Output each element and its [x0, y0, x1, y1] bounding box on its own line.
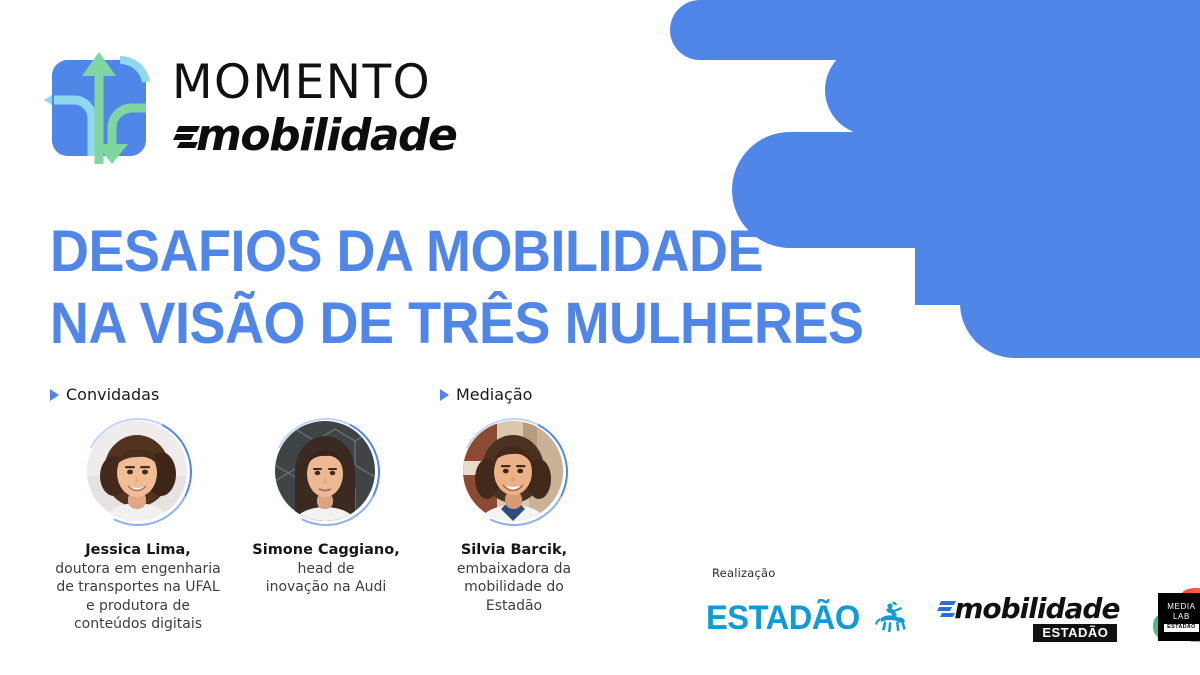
- section-label-guests-text: Convidadas: [66, 385, 159, 404]
- speaker-role: head de inovação na Audi: [266, 560, 387, 596]
- media-lab-mark: MEDIA LAB ESTADÃO: [1158, 593, 1200, 641]
- speaker-card: Silvia Barcik, embaixadora da mobilidade…: [420, 418, 608, 633]
- estadao-logo: ESTADÃO: [706, 599, 910, 637]
- headline-line-2: NA VISÃO DE TRÊS MULHERES: [50, 288, 887, 360]
- speakers-list: Jessica Lima, doutora em engenharia de t…: [44, 418, 608, 633]
- triangle-bullet-icon: [440, 389, 449, 401]
- portrait-jessica-lima: [84, 418, 192, 526]
- mobilidade-estadao-badge: ESTADÃO: [1033, 624, 1117, 642]
- portrait-silvia-barcik: [460, 418, 568, 526]
- realizacao-label: Realização: [712, 566, 1176, 580]
- media-lab-estadao-badge: ESTADÃO: [1164, 624, 1199, 632]
- speed-lines-icon: [936, 597, 956, 621]
- triangle-bullet-icon: [50, 389, 59, 401]
- brand-mobilidade-text: mobilidade: [196, 114, 456, 158]
- speaker-name: Jessica Lima,: [85, 541, 191, 559]
- mobilidade-row: mobilidade: [936, 595, 1119, 623]
- speaker-role: embaixadora da mobilidade do Estadão: [457, 560, 571, 615]
- horse-rider-icon: [872, 599, 910, 637]
- portrait-ring: [70, 404, 206, 540]
- portrait-ring: [258, 404, 394, 540]
- speaker-role: doutora em engenharia de transportes na …: [55, 560, 220, 633]
- media-lab-line2: LAB: [1173, 612, 1190, 622]
- speaker-card: Simone Caggiano, head de inovação na Aud…: [232, 418, 420, 633]
- brand-lockup: MOMENTO mobilidade: [44, 52, 456, 164]
- portrait-ring: [446, 404, 582, 540]
- speaker-card: Jessica Lima, doutora em engenharia de t…: [44, 418, 232, 633]
- speaker-name: Simone Caggiano,: [252, 541, 399, 559]
- section-label-guests: Convidadas: [50, 385, 159, 404]
- speaker-name: Silvia Barcik,: [461, 541, 567, 559]
- page-title: DESAFIOS DA MOBILIDADE NA VISÃO DE TRÊS …: [50, 216, 950, 360]
- media-lab-logo: MEDIA LAB ESTADÃO: [1145, 586, 1176, 650]
- headline-line-1: DESAFIOS DA MOBILIDADE: [50, 216, 887, 288]
- mobilidade-wordmark: mobilidade: [954, 595, 1119, 623]
- brand-mobilidade-row: mobilidade: [172, 113, 456, 159]
- estadao-wordmark: ESTADÃO: [706, 601, 860, 635]
- footer-sponsors: Realização ESTADÃO: [706, 566, 1176, 646]
- brand-momento-text: MOMENTO: [172, 59, 456, 106]
- mobilidade-estadao-logo: mobilidade ESTADÃO: [936, 595, 1119, 642]
- brand-wordmark: MOMENTO mobilidade: [172, 57, 456, 159]
- section-label-moderation: Mediação: [440, 385, 532, 404]
- portrait-simone-caggiano: [272, 418, 380, 526]
- section-label-moderation-text: Mediação: [456, 385, 532, 404]
- momento-mobilidade-mark-icon: [44, 52, 154, 164]
- sponsor-logos: ESTADÃO: [706, 586, 1176, 650]
- media-lab-line1: MEDIA: [1167, 602, 1195, 612]
- slide-canvas: MOMENTO mobilidade DESAFIOS DA MOBILIDAD…: [0, 0, 1200, 675]
